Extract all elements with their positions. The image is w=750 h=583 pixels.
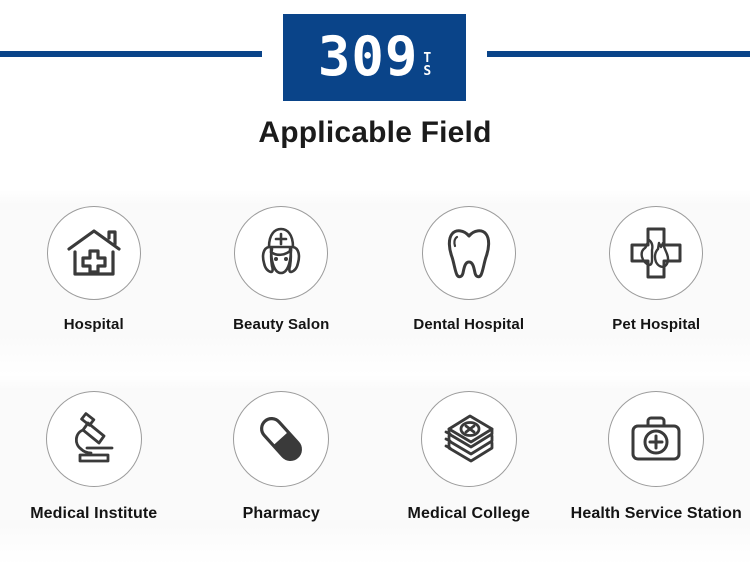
field-item-medical-institute[interactable]: Medical Institute [0,375,188,565]
book-stack-medical-icon [440,413,498,465]
header-rule-right [487,51,750,57]
applicable-field-grid: Hospital [0,190,750,565]
logo-digits: 309 [318,31,419,82]
field-label: Health Service Station [571,505,742,523]
tooth-icon [446,226,492,280]
field-item-medical-college[interactable]: Medical College [375,375,563,565]
icon-circle [608,391,704,487]
field-item-health-service-station[interactable]: Health Service Station [563,375,750,565]
microscope-icon [67,412,121,466]
field-label: Dental Hospital [413,316,524,333]
nurse-face-icon [253,226,309,280]
hospital-house-cross-icon [65,227,123,279]
capsule-pill-icon [253,411,309,467]
first-aid-kit-icon [629,414,683,464]
icon-circle [233,391,329,487]
field-row: Hospital [0,190,750,375]
field-item-hospital[interactable]: Hospital [0,190,188,375]
field-label: Medical College [408,505,530,523]
field-label: Hospital [64,316,124,333]
field-item-pet-hospital[interactable]: Pet Hospital [563,190,750,375]
logo-suffix-bottom: S [423,65,431,78]
icon-circle [234,206,328,300]
field-item-dental-hospital[interactable]: Dental Hospital [375,190,563,375]
cross-pets-icon [629,226,683,280]
icon-circle [422,206,516,300]
brand-logo: 309 T S [283,14,466,101]
logo-suffix: T S [423,52,431,78]
field-label: Medical Institute [30,505,157,523]
field-row: Medical Institute Pharmacy [0,375,750,565]
icon-circle [421,391,517,487]
header-rule-left [0,51,262,57]
field-item-pharmacy[interactable]: Pharmacy [188,375,376,565]
page-header: 309 T S [0,0,750,110]
page-title: Applicable Field [0,116,750,150]
icon-circle [47,206,141,300]
field-label: Pet Hospital [612,316,700,333]
applicable-field-page: 309 T S Applicable Field [0,0,750,583]
field-item-beauty-salon[interactable]: Beauty Salon [188,190,376,375]
logo-inner: 309 T S [318,31,431,82]
field-label: Beauty Salon [233,316,329,333]
icon-circle [609,206,703,300]
field-label: Pharmacy [243,505,320,523]
icon-circle [46,391,142,487]
